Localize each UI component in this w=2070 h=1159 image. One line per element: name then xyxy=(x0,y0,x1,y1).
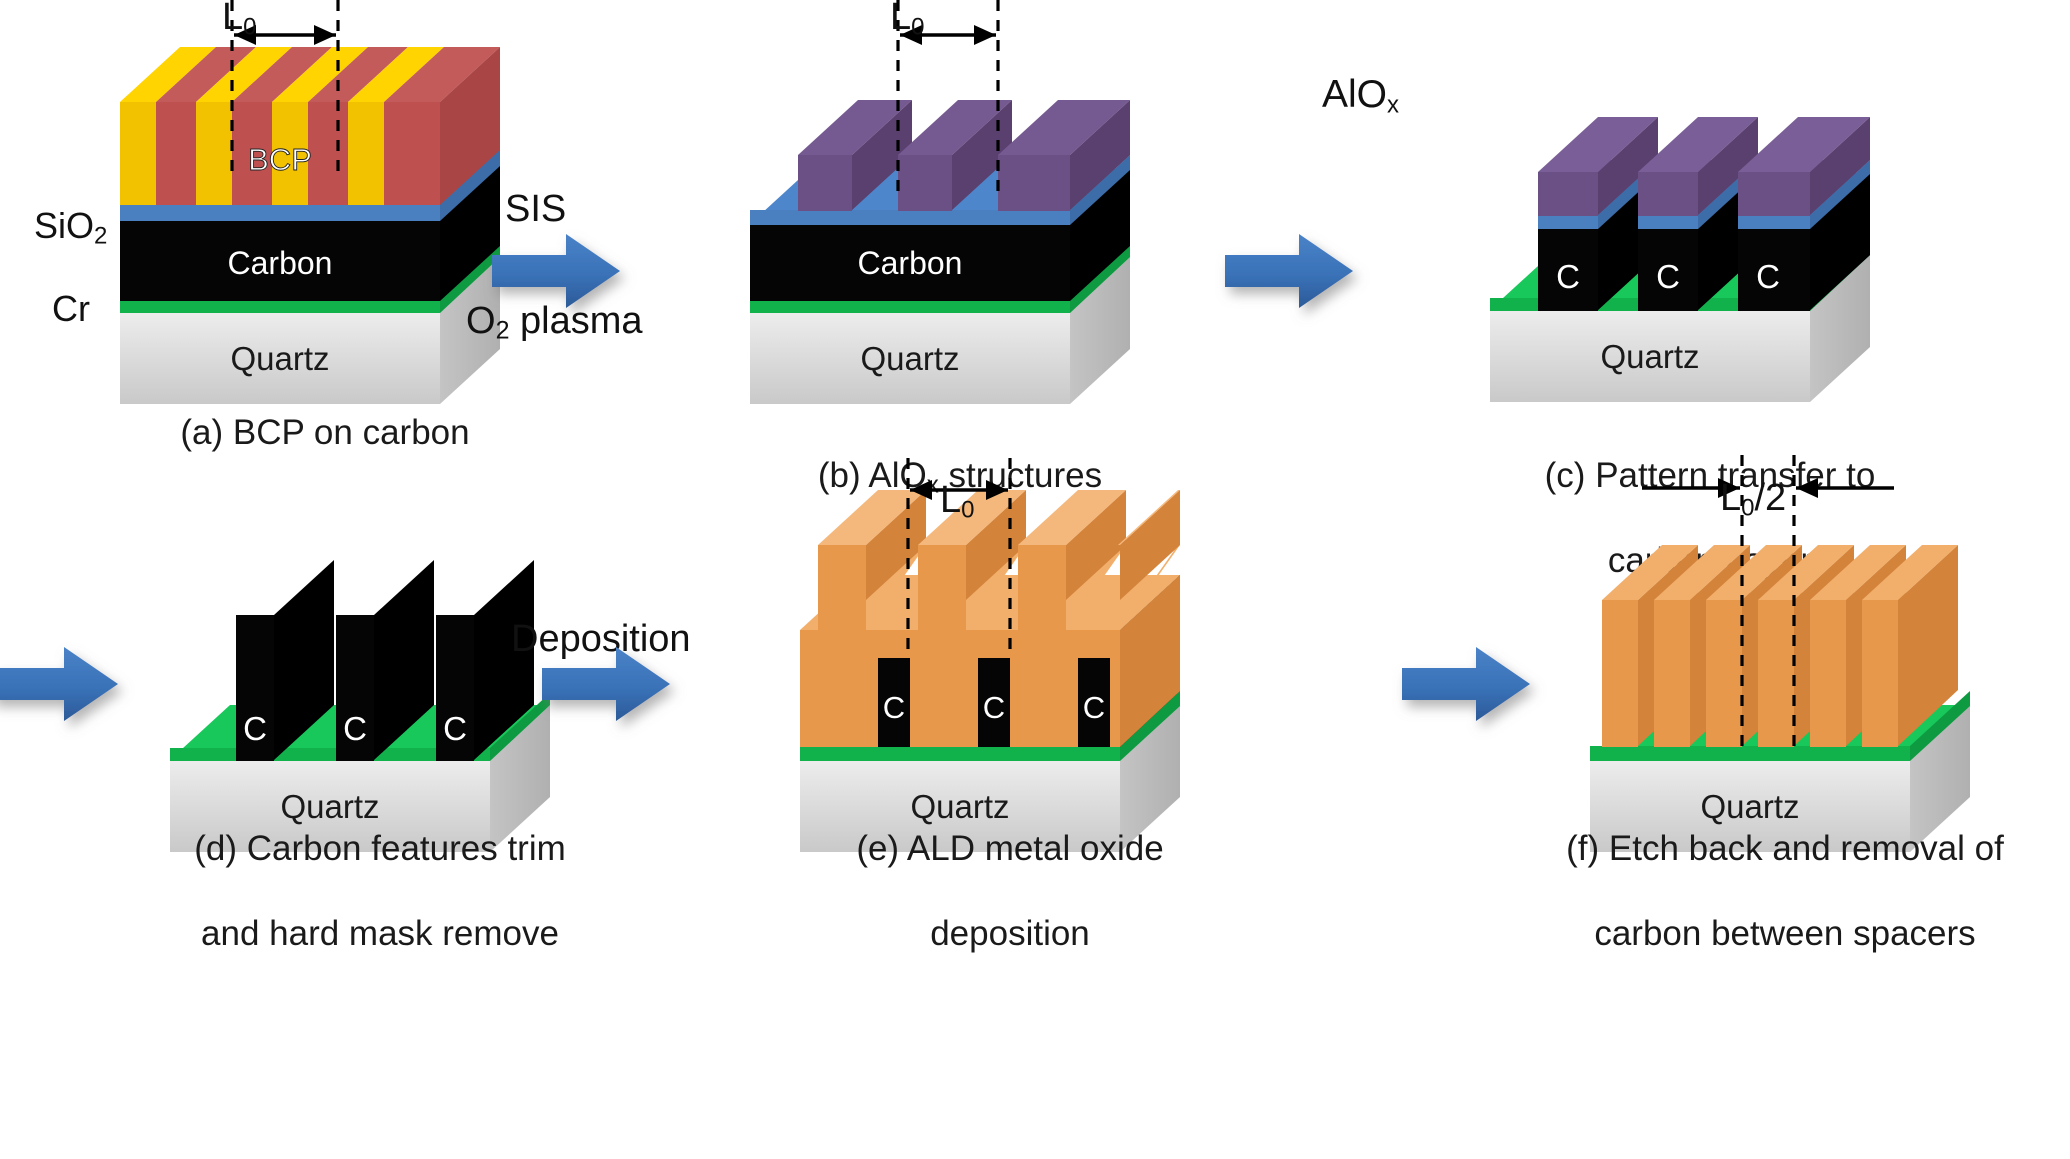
caption-d: (d) Carbon features trim and hard mask r… xyxy=(130,785,630,956)
dim-label-b: L0 xyxy=(890,0,925,41)
panel-b-illustration: Carbon xyxy=(740,52,1180,412)
panel-c-pattern-transfer: C C xyxy=(1480,110,1930,420)
alox-material-label: AlOx xyxy=(1322,73,1399,119)
c-label-d3: C xyxy=(443,710,467,747)
alox-subscript: x xyxy=(1387,91,1399,118)
process-arrow-5 xyxy=(1400,645,1532,723)
c-label-c2: C xyxy=(1656,258,1680,295)
sio2-side-label: SiO2 xyxy=(34,205,107,250)
process-arrow-3 xyxy=(0,645,120,723)
alox-prefix: AlO xyxy=(1322,73,1387,116)
dim-sub-a: 0 xyxy=(243,13,256,40)
sio2-subscript: 2 xyxy=(94,222,107,249)
caption-d-line2: and hard mask remove xyxy=(201,914,559,953)
dim-half-f: /2 xyxy=(1755,477,1787,519)
panel-a-illustration: Carbon xyxy=(110,52,540,412)
dim-label-f: L0/2 xyxy=(1720,477,1786,522)
o2-plasma-label: O2 plasma xyxy=(466,300,643,346)
c-label-e2: C xyxy=(983,690,1005,725)
panel-a-bcp-on-carbon: Carbon xyxy=(110,52,540,412)
caption-e-line1: (e) ALD metal oxide xyxy=(856,829,1163,868)
quartz-label-a: Quartz xyxy=(230,340,329,377)
dim-L-b: L xyxy=(890,0,911,38)
caption-f-line2: carbon between spacers xyxy=(1594,914,1975,953)
o2-suffix: plasma xyxy=(509,300,642,342)
c-label-e1: C xyxy=(883,690,905,725)
alox-fins-b xyxy=(798,100,1130,211)
dim-label-a: L0 xyxy=(222,0,257,41)
carbon-fins-d: C C C xyxy=(236,560,534,761)
c-label-c1: C xyxy=(1556,258,1580,295)
quartz-label-b: Quartz xyxy=(860,340,959,377)
quartz-label-c: Quartz xyxy=(1600,338,1699,375)
cr-side-label: Cr xyxy=(52,288,90,330)
c-label-e3: C xyxy=(1083,690,1105,725)
carbon-label-a: Carbon xyxy=(228,245,333,281)
caption-d-line1: (d) Carbon features trim xyxy=(194,829,566,868)
sio2-text: SiO xyxy=(34,205,94,246)
dim-L-f: L xyxy=(1720,477,1741,519)
bcp-label-a: BCP xyxy=(248,142,312,177)
caption-a: (a) BCP on carbon xyxy=(110,412,540,455)
carbon-fins-c: C C xyxy=(1538,117,1870,311)
c-label-d2: C xyxy=(343,710,367,747)
caption-e: (e) ALD metal oxide deposition xyxy=(760,785,1260,956)
dim-sub-b: 0 xyxy=(911,13,924,40)
caption-f: (f) Etch back and removal of carbon betw… xyxy=(1500,785,2070,956)
process-flow-figure: Carbon xyxy=(0,0,2070,1159)
c-label-d1: C xyxy=(243,710,267,747)
panel-c-illustration: C C xyxy=(1480,110,1930,420)
caption-e-line2: deposition xyxy=(930,914,1090,953)
process-arrow-2 xyxy=(1223,232,1355,310)
o2-prefix: O xyxy=(466,300,496,342)
panel-b-alox-structures: Carbon xyxy=(740,52,1180,412)
dim-L-a: L xyxy=(222,0,243,38)
dim-sub-e: 0 xyxy=(961,496,974,523)
dim-label-e: L0 xyxy=(940,479,975,524)
dim-L-e: L xyxy=(940,479,961,521)
caption-f-line1: (f) Etch back and removal of xyxy=(1566,829,2004,868)
sis-label: SIS xyxy=(505,188,566,231)
process-arrow-1 xyxy=(490,232,622,310)
c-label-c3: C xyxy=(1756,258,1780,295)
o2-subscript: 2 xyxy=(496,317,510,345)
spacer-fins-f xyxy=(1602,545,1958,747)
carbon-label-b: Carbon xyxy=(858,245,963,281)
process-arrow-4 xyxy=(540,645,672,723)
bcp-block-a: BCP xyxy=(120,47,500,205)
dim-sub-f: 0 xyxy=(1741,494,1754,521)
